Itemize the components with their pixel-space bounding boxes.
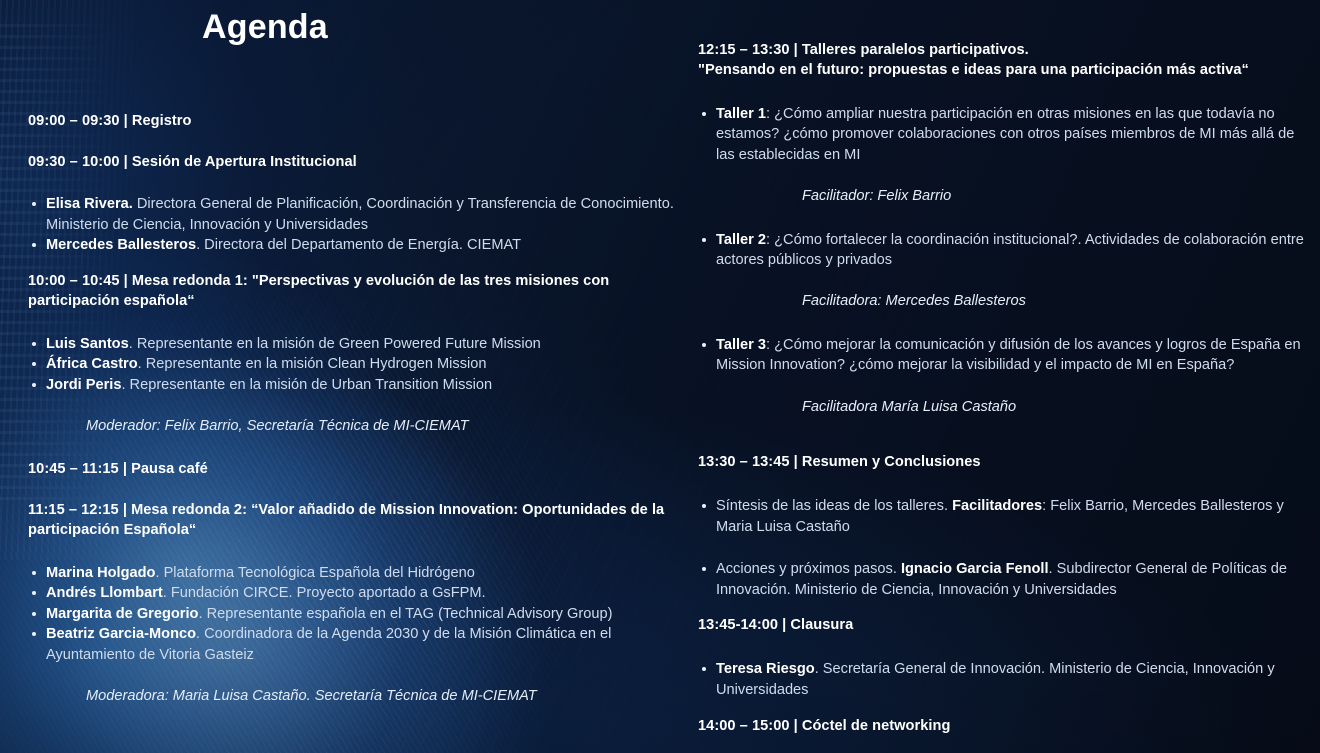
speaker-role: . Fundación CIRCE. Proyecto aportado a G… <box>163 585 486 601</box>
speaker-name: Margarita de Gregorio <box>46 606 198 622</box>
summary-text: Acciones y próximos pasos. <box>716 561 901 577</box>
moderator-note: Moderador: Felix Barrio, Secretaría Técn… <box>86 416 676 436</box>
speaker-name: Jordi Peris <box>46 377 121 393</box>
list-item: Jordi Peris. Representante en la misión … <box>28 375 676 395</box>
speaker-role: . Plataforma Tecnológica Española del Hi… <box>155 565 474 581</box>
workshop-name: Taller 2 <box>716 232 766 248</box>
list-item: Marina Holgado. Plataforma Tecnológica E… <box>28 563 676 583</box>
list-item: Teresa Riesgo. Secretaría General de Inn… <box>698 659 1312 700</box>
agenda-slot-registro: 09:00 – 09:30 | Registro <box>28 111 676 131</box>
list-item: Acciones y próximos pasos. Ignacio Garci… <box>698 559 1312 600</box>
agenda-slot-mesa-redonda-2: 11:15 – 12:15 | Mesa redonda 2: “Valor a… <box>28 500 676 706</box>
workshop-description: : ¿Cómo fortalecer la coordinación insti… <box>716 232 1304 268</box>
facilitator-note: Facilitadora María Luisa Castaño <box>802 397 1312 417</box>
summary-text: Síntesis de las ideas de los talleres. <box>716 498 952 514</box>
list-item: Andrés Llombart. Fundación CIRCE. Proyec… <box>28 583 676 603</box>
speaker-role: . Representante en la misión de Urban Tr… <box>121 377 492 393</box>
workshop-list: Taller 1: ¿Cómo ampliar nuestra particip… <box>698 104 1312 165</box>
page-title: Agenda <box>202 8 328 47</box>
list-item: Elisa Rivera. Directora General de Plani… <box>28 194 676 235</box>
workshop-list: Taller 3: ¿Cómo mejorar la comunicación … <box>698 335 1312 376</box>
list-item: África Castro. Representante en la misió… <box>28 354 676 374</box>
speaker-name: Beatriz Garcia-Monco <box>46 626 196 642</box>
slot-time-title: 10:00 – 10:45 | Mesa redonda 1: "Perspec… <box>28 271 676 312</box>
list-item: Taller 3: ¿Cómo mejorar la comunicación … <box>698 335 1312 376</box>
speaker-name: África Castro <box>46 356 138 372</box>
moderator-note: Moderadora: Maria Luisa Castaño. Secreta… <box>86 686 676 706</box>
summary-name: Ignacio Garcia Fenoll <box>901 561 1049 577</box>
speaker-name: Mercedes Ballesteros <box>46 237 196 253</box>
speaker-name: Marina Holgado <box>46 565 155 581</box>
list-item: Luis Santos. Representante en la misión … <box>28 334 676 354</box>
speaker-name: Andrés Llombart <box>46 585 163 601</box>
facilitator-note: Facilitador: Felix Barrio <box>802 186 1312 206</box>
slot-time-title: 14:00 – 15:00 | Cóctel de networking <box>698 716 1312 736</box>
slot-time-title: 09:30 – 10:00 | Sesión de Apertura Insti… <box>28 152 676 172</box>
workshop-name: Taller 1 <box>716 106 766 122</box>
workshops-header-line2: "Pensando en el futuro: propuestas e ide… <box>698 60 1312 80</box>
list-item: Beatriz Garcia-Monco. Coordinadora de la… <box>28 624 676 665</box>
agenda-slide: Agenda 09:00 – 09:30 | Registro 09:30 – … <box>0 0 1320 753</box>
speaker-role: Directora General de Planificación, Coor… <box>46 196 674 232</box>
summary-list: Síntesis de las ideas de los talleres. F… <box>698 496 1312 600</box>
speaker-list: Luis Santos. Representante en la misión … <box>28 334 676 395</box>
slot-time-title: 13:45-14:00 | Clausura <box>698 615 1312 635</box>
agenda-slot-resumen: 13:30 – 13:45 | Resumen y Conclusiones S… <box>698 452 1312 600</box>
workshop-description: : ¿Cómo mejorar la comunicación y difusi… <box>716 337 1301 373</box>
slot-time-title: 11:15 – 12:15 | Mesa redonda 2: “Valor a… <box>28 500 676 541</box>
speaker-role: . Directora del Departamento de Energía.… <box>196 237 521 253</box>
speaker-role: . Representante española en el TAG (Tech… <box>198 606 612 622</box>
speaker-name: Elisa Rivera. <box>46 196 133 212</box>
slot-time-title: 10:45 – 11:15 | Pausa café <box>28 459 676 479</box>
speaker-role: . Representante en la misión de Green Po… <box>129 336 541 352</box>
workshop-description: : ¿Cómo ampliar nuestra participación en… <box>716 106 1294 163</box>
summary-name: Facilitadores <box>952 498 1042 514</box>
agenda-slot-talleres: 12:15 – 13:30 | Talleres paralelos parti… <box>698 40 1312 417</box>
workshop-name: Taller 3 <box>716 337 766 353</box>
list-item: Síntesis de las ideas de los talleres. F… <box>698 496 1312 537</box>
agenda-slot-networking: 14:00 – 15:00 | Cóctel de networking <box>698 716 1312 736</box>
closing-list: Teresa Riesgo. Secretaría General de Inn… <box>698 659 1312 700</box>
slot-time-title: 09:00 – 09:30 | Registro <box>28 111 676 131</box>
list-item: Margarita de Gregorio. Representante esp… <box>28 604 676 624</box>
facilitator-note: Facilitadora: Mercedes Ballesteros <box>802 291 1312 311</box>
agenda-slot-apertura: 09:30 – 10:00 | Sesión de Apertura Insti… <box>28 152 676 256</box>
speaker-list: Elisa Rivera. Directora General de Plani… <box>28 194 676 255</box>
slot-time-title: 13:30 – 13:45 | Resumen y Conclusiones <box>698 452 1312 472</box>
list-item: Taller 2: ¿Cómo fortalecer la coordinaci… <box>698 230 1312 271</box>
speaker-name: Luis Santos <box>46 336 129 352</box>
agenda-slot-pausa-cafe: 10:45 – 11:15 | Pausa café <box>28 459 676 479</box>
agenda-slot-clausura: 13:45-14:00 | Clausura Teresa Riesgo. Se… <box>698 615 1312 700</box>
list-item: Mercedes Ballesteros. Directora del Depa… <box>28 235 676 255</box>
speaker-role: . Representante en la misión Clean Hydro… <box>138 356 487 372</box>
slide-content: Agenda 09:00 – 09:30 | Registro 09:30 – … <box>0 0 1320 753</box>
speaker-name: Teresa Riesgo <box>716 661 815 677</box>
agenda-slot-mesa-redonda-1: 10:00 – 10:45 | Mesa redonda 1: "Perspec… <box>28 271 676 437</box>
workshop-list: Taller 2: ¿Cómo fortalecer la coordinaci… <box>698 230 1312 271</box>
list-item: Taller 1: ¿Cómo ampliar nuestra particip… <box>698 104 1312 165</box>
speaker-list: Marina Holgado. Plataforma Tecnológica E… <box>28 563 676 665</box>
workshops-header-line1: 12:15 – 13:30 | Talleres paralelos parti… <box>698 40 1312 60</box>
